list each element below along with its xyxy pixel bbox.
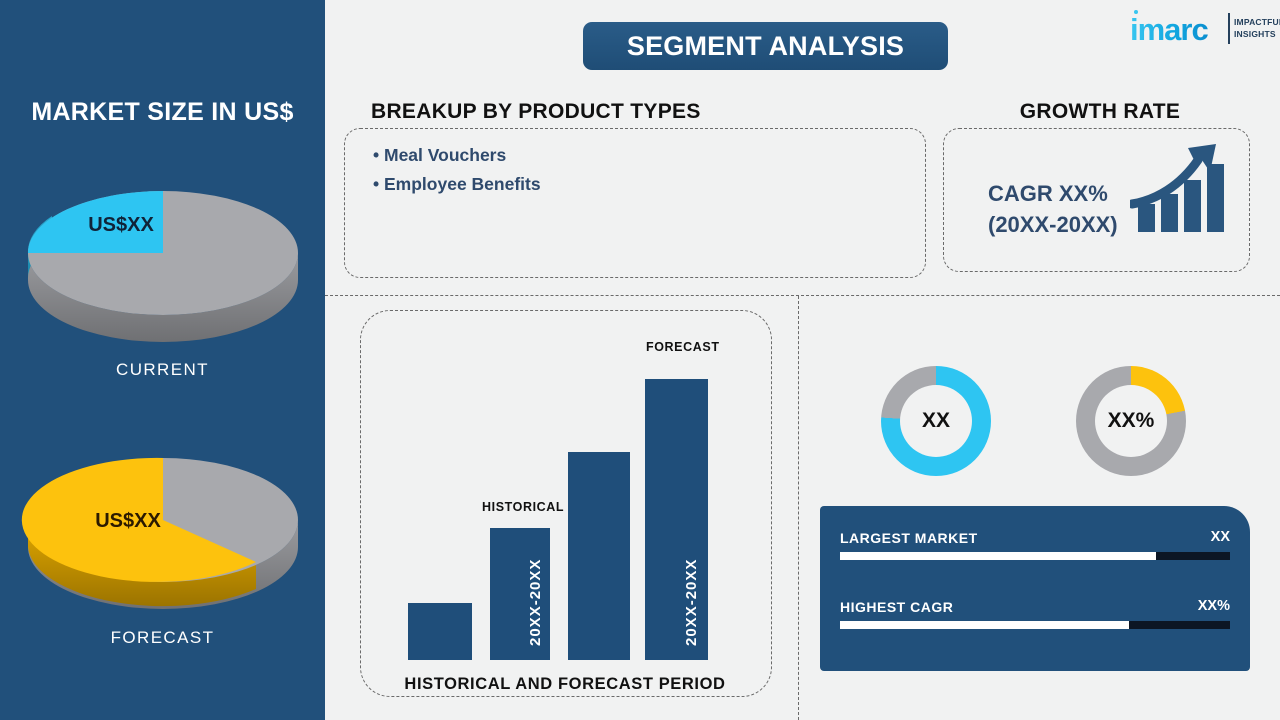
growth-section-title: GROWTH RATE: [940, 100, 1260, 124]
header: SEGMENT ANALYSIS imarc IMPACTFUL INSIGHT…: [325, 0, 1280, 88]
stat-progress-fill: [840, 552, 1156, 560]
donut-1-label: XX: [922, 409, 950, 433]
stat-progress-track: [840, 552, 1230, 560]
cagr-line-1: CAGR XX%: [988, 178, 1118, 209]
pie-current-value: US$XX: [88, 214, 154, 236]
barchart-axis-label: HISTORICAL AND FORECAST PERIOD: [360, 675, 770, 694]
breakup-section-title: BREAKUP BY PRODUCT TYPES: [371, 100, 701, 124]
cagr-text: CAGR XX% (20XX-20XX): [988, 178, 1118, 240]
sidebar-title: MARKET SIZE IN US$: [0, 98, 325, 127]
stat-label: HIGHEST CAGR: [840, 599, 953, 615]
stats-panel: LARGEST MARKET XX HIGHEST CAGR XX%: [820, 506, 1250, 671]
donut-2-label: XX%: [1108, 409, 1155, 433]
donut-2-hole: XX%: [1095, 385, 1167, 457]
cagr-line-2: (20XX-20XX): [988, 209, 1118, 240]
logo-tagline-line2: INSIGHTS: [1234, 28, 1280, 40]
pie-chart-forecast: US$XX: [18, 425, 308, 615]
donut-1-hole: XX: [900, 385, 972, 457]
logo-divider: [1228, 13, 1230, 44]
stat-label: LARGEST MARKET: [840, 530, 978, 546]
bar-1: [408, 603, 472, 660]
pie-forecast-svg: US$XX: [18, 425, 308, 615]
sidebar-market-size: MARKET SIZE IN US$ US$X: [0, 0, 325, 720]
rising-bar-arrow-icon: [1130, 142, 1228, 234]
divider-horizontal: [325, 295, 1280, 296]
page-title-badge: SEGMENT ANALYSIS: [583, 22, 948, 70]
pie-forecast-caption: FORECAST: [0, 628, 325, 648]
bar-3: [568, 452, 630, 660]
breakup-panel: Meal Vouchers Employee Benefits: [344, 128, 926, 278]
pie-current-caption: CURRENT: [0, 360, 325, 380]
donut-chart-2: XX%: [1076, 366, 1186, 476]
list-item: Employee Benefits: [373, 170, 541, 199]
bar-2-period-label: 20XX-20XX: [527, 559, 544, 646]
historical-forecast-barchart: HISTORICAL FORECAST 20XX-20XX 20XX-20XX: [360, 310, 770, 695]
bar-4-period-label: 20XX-20XX: [683, 559, 700, 646]
page-title: SEGMENT ANALYSIS: [627, 31, 904, 62]
list-item: Meal Vouchers: [373, 141, 541, 170]
donut-chart-1: XX: [881, 366, 991, 476]
bar-annotation-forecast: FORECAST: [646, 340, 720, 354]
logo-tagline-line1: IMPACTFUL: [1234, 16, 1280, 28]
breakup-list: Meal Vouchers Employee Benefits: [373, 141, 541, 199]
stat-value: XX%: [1198, 598, 1230, 614]
stat-value: XX: [1211, 529, 1230, 545]
pie-forecast-value: US$XX: [95, 510, 161, 532]
imarc-logo: imarc IMPACTFUL INSIGHTS: [1130, 10, 1280, 52]
pie-current-svg: US$XX: [18, 158, 308, 348]
bar-annotation-historical: HISTORICAL: [482, 500, 564, 514]
stat-progress-track: [840, 621, 1230, 629]
logo-wordmark: imarc: [1130, 14, 1208, 45]
logo-tagline: IMPACTFUL INSIGHTS: [1234, 16, 1280, 40]
divider-vertical: [798, 296, 799, 720]
infographic-root: MARKET SIZE IN US$ US$X: [0, 0, 1280, 720]
pie-chart-current: US$XX: [18, 158, 308, 348]
stat-progress-fill: [840, 621, 1129, 629]
